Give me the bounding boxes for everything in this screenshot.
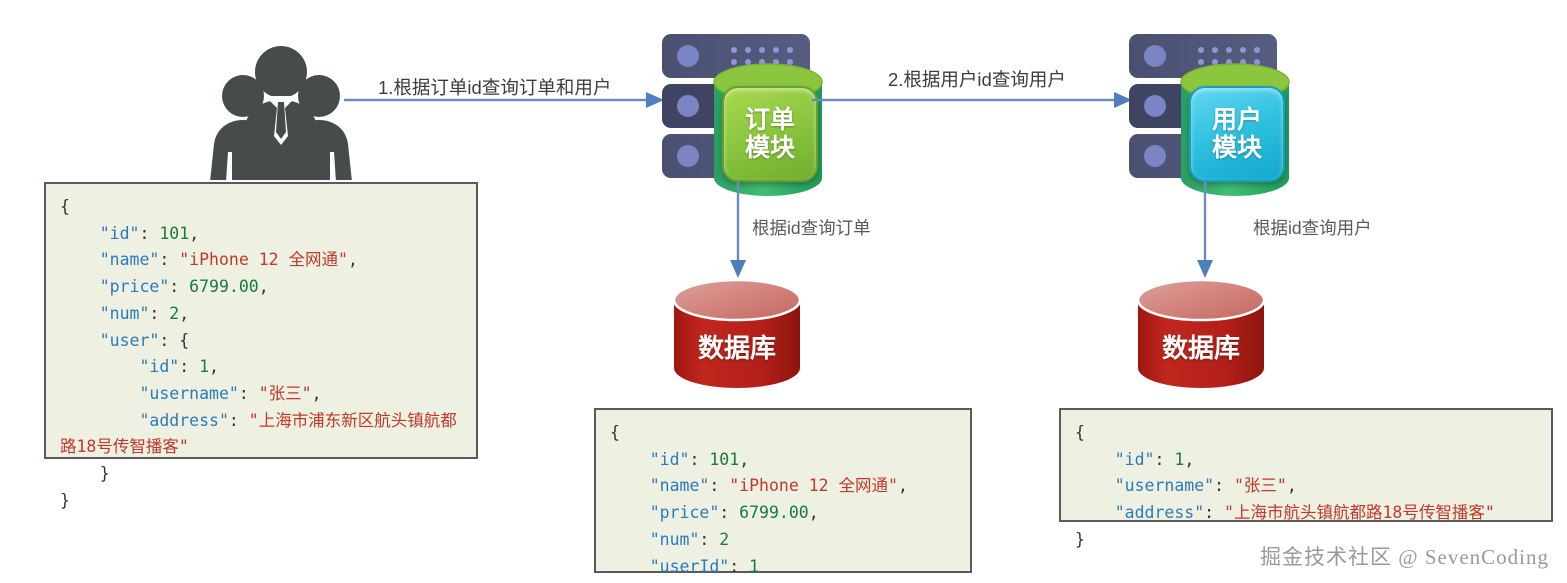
code-token-n: 1 bbox=[1174, 450, 1184, 469]
order-module-badge[interactable]: 订单 模块 bbox=[722, 86, 818, 182]
code-token-p: : bbox=[729, 557, 749, 576]
code-line: } bbox=[60, 488, 464, 515]
code-token-k: "num" bbox=[100, 304, 150, 323]
code-line: { bbox=[60, 194, 464, 221]
connector-order-to-db-label: 根据id查询订单 bbox=[752, 215, 871, 240]
code-token-p: { bbox=[1075, 423, 1085, 442]
node-user-database[interactable]: 数据库 bbox=[1134, 278, 1268, 390]
code-token-n: 6799.00 bbox=[189, 277, 259, 296]
connector-user-to-db-label: 根据id查询用户 bbox=[1253, 215, 1372, 240]
code-token-p: , bbox=[898, 476, 908, 495]
code-token-p: { bbox=[610, 423, 620, 442]
code-token-k: "id" bbox=[100, 224, 140, 243]
order-module-label-line2: 模块 bbox=[745, 134, 795, 162]
code-token-k: "id" bbox=[139, 357, 179, 376]
user-module-label-line2: 模块 bbox=[1212, 134, 1262, 162]
code-line: "price": 6799.00, bbox=[610, 500, 958, 527]
code-line: "id": 101, bbox=[610, 447, 958, 474]
code-token-p: : bbox=[1214, 476, 1234, 495]
code-token-p: , bbox=[259, 277, 269, 296]
code-token-p: { bbox=[60, 197, 70, 216]
code-token-p: : bbox=[1155, 450, 1175, 469]
order-database-label: 数据库 bbox=[670, 328, 804, 365]
code-token-k: "name" bbox=[100, 250, 160, 269]
code-line: "id": 101, bbox=[60, 221, 464, 248]
code-block-order-with-user: { "id": 101, "name": "iPhone 12 全网通", "p… bbox=[44, 182, 478, 459]
code-token-p: : bbox=[719, 503, 739, 522]
code-token-k: "num" bbox=[650, 530, 700, 549]
user-module-badge[interactable]: 用户 模块 bbox=[1189, 86, 1285, 182]
code-token-p: } bbox=[100, 464, 110, 483]
user-database-label: 数据库 bbox=[1134, 328, 1268, 365]
code-token-s: "张三" bbox=[1234, 476, 1287, 495]
code-line: "num": 2, bbox=[60, 301, 464, 328]
connector-step2-label: 2.根据用户id查询用户 bbox=[888, 66, 1066, 92]
code-token-n: 1 bbox=[199, 357, 209, 376]
code-token-p: : bbox=[229, 411, 249, 430]
code-token-p: , bbox=[739, 450, 749, 469]
order-module-label-line1: 订单 bbox=[745, 106, 795, 134]
code-token-k: "id" bbox=[1115, 450, 1155, 469]
watermark-text: 掘金技术社区 @ SevenCoding bbox=[1260, 541, 1549, 571]
code-token-p: } bbox=[1075, 530, 1085, 549]
code-token-p: : bbox=[1204, 503, 1224, 522]
code-line: "name": "iPhone 12 全网通", bbox=[60, 247, 464, 274]
code-token-p: , bbox=[179, 304, 189, 323]
code-token-p: : bbox=[690, 450, 710, 469]
code-token-p: : bbox=[169, 277, 189, 296]
code-token-p: , bbox=[189, 224, 199, 243]
code-token-p: , bbox=[809, 503, 819, 522]
user-module-label-line1: 用户 bbox=[1212, 106, 1262, 134]
code-token-k: "price" bbox=[100, 277, 170, 296]
code-token-n: 101 bbox=[709, 450, 739, 469]
code-block-user: { "id": 1, "username": "张三", "address": … bbox=[1059, 408, 1553, 522]
code-token-n: 1 bbox=[749, 557, 759, 576]
code-token-k: "username" bbox=[1115, 476, 1214, 495]
code-token-s: "iPhone 12 全网通" bbox=[729, 476, 898, 495]
code-block-order: { "id": 101, "name": "iPhone 12 全网通", "p… bbox=[594, 408, 972, 573]
code-line: "address": "上海市浦东新区航头镇航都路18号传智播客" bbox=[60, 408, 464, 461]
code-line: "id": 1, bbox=[1075, 447, 1539, 474]
code-line: "name": "iPhone 12 全网通", bbox=[610, 473, 958, 500]
node-order-database[interactable]: 数据库 bbox=[670, 278, 804, 390]
code-token-k: "username" bbox=[139, 384, 238, 403]
code-token-p: : bbox=[699, 530, 719, 549]
code-line: "address": "上海市航头镇航都路18号传智播客" bbox=[1075, 500, 1539, 527]
code-token-n: 101 bbox=[159, 224, 189, 243]
code-token-k: "address" bbox=[139, 411, 228, 430]
code-token-n: 2 bbox=[719, 530, 729, 549]
code-token-p: , bbox=[1184, 450, 1194, 469]
code-token-s: "iPhone 12 全网通" bbox=[179, 250, 348, 269]
code-line: "username": "张三", bbox=[1075, 473, 1539, 500]
code-token-s: "张三" bbox=[259, 384, 312, 403]
code-token-p: : bbox=[239, 384, 259, 403]
node-order-service[interactable]: 订单 模块 bbox=[660, 32, 812, 182]
code-token-p: : bbox=[709, 476, 729, 495]
code-token-p: , bbox=[348, 250, 358, 269]
code-token-k: "name" bbox=[650, 476, 710, 495]
code-token-p: : bbox=[140, 224, 160, 243]
code-line: { bbox=[1075, 420, 1539, 447]
connector-order-to-db bbox=[722, 182, 754, 278]
code-token-p: : { bbox=[159, 331, 189, 350]
code-token-k: "userId" bbox=[650, 557, 729, 576]
code-token-p: , bbox=[312, 384, 322, 403]
code-token-n: 2 bbox=[169, 304, 179, 323]
code-token-s: "上海市航头镇航都路18号传智播客" bbox=[1224, 503, 1495, 522]
connector-step1-label: 1.根据订单id查询订单和用户 bbox=[378, 74, 611, 100]
code-token-p: } bbox=[60, 491, 70, 510]
people-group-icon bbox=[208, 32, 354, 180]
code-token-k: "address" bbox=[1115, 503, 1204, 522]
code-token-p: : bbox=[179, 357, 199, 376]
code-token-p: , bbox=[209, 357, 219, 376]
code-token-p: , bbox=[1287, 476, 1297, 495]
node-user-service[interactable]: 用户 模块 bbox=[1127, 32, 1279, 182]
code-line: "id": 1, bbox=[60, 354, 464, 381]
code-token-k: "price" bbox=[650, 503, 720, 522]
code-token-k: "user" bbox=[100, 331, 160, 350]
code-line: "user": { bbox=[60, 328, 464, 355]
connector-user-to-db bbox=[1189, 182, 1221, 278]
code-token-p: : bbox=[159, 250, 179, 269]
code-token-k: "id" bbox=[650, 450, 690, 469]
code-line: "username": "张三", bbox=[60, 381, 464, 408]
diagram-canvas: 1.根据订单id查询订单和用户 bbox=[0, 0, 1567, 583]
code-token-p: : bbox=[149, 304, 169, 323]
code-line: "userId": 1 bbox=[610, 554, 958, 581]
code-line: { bbox=[610, 420, 958, 447]
code-line: "num": 2 bbox=[610, 527, 958, 554]
code-line: } bbox=[60, 461, 464, 488]
code-line: "price": 6799.00, bbox=[60, 274, 464, 301]
code-token-n: 6799.00 bbox=[739, 503, 809, 522]
